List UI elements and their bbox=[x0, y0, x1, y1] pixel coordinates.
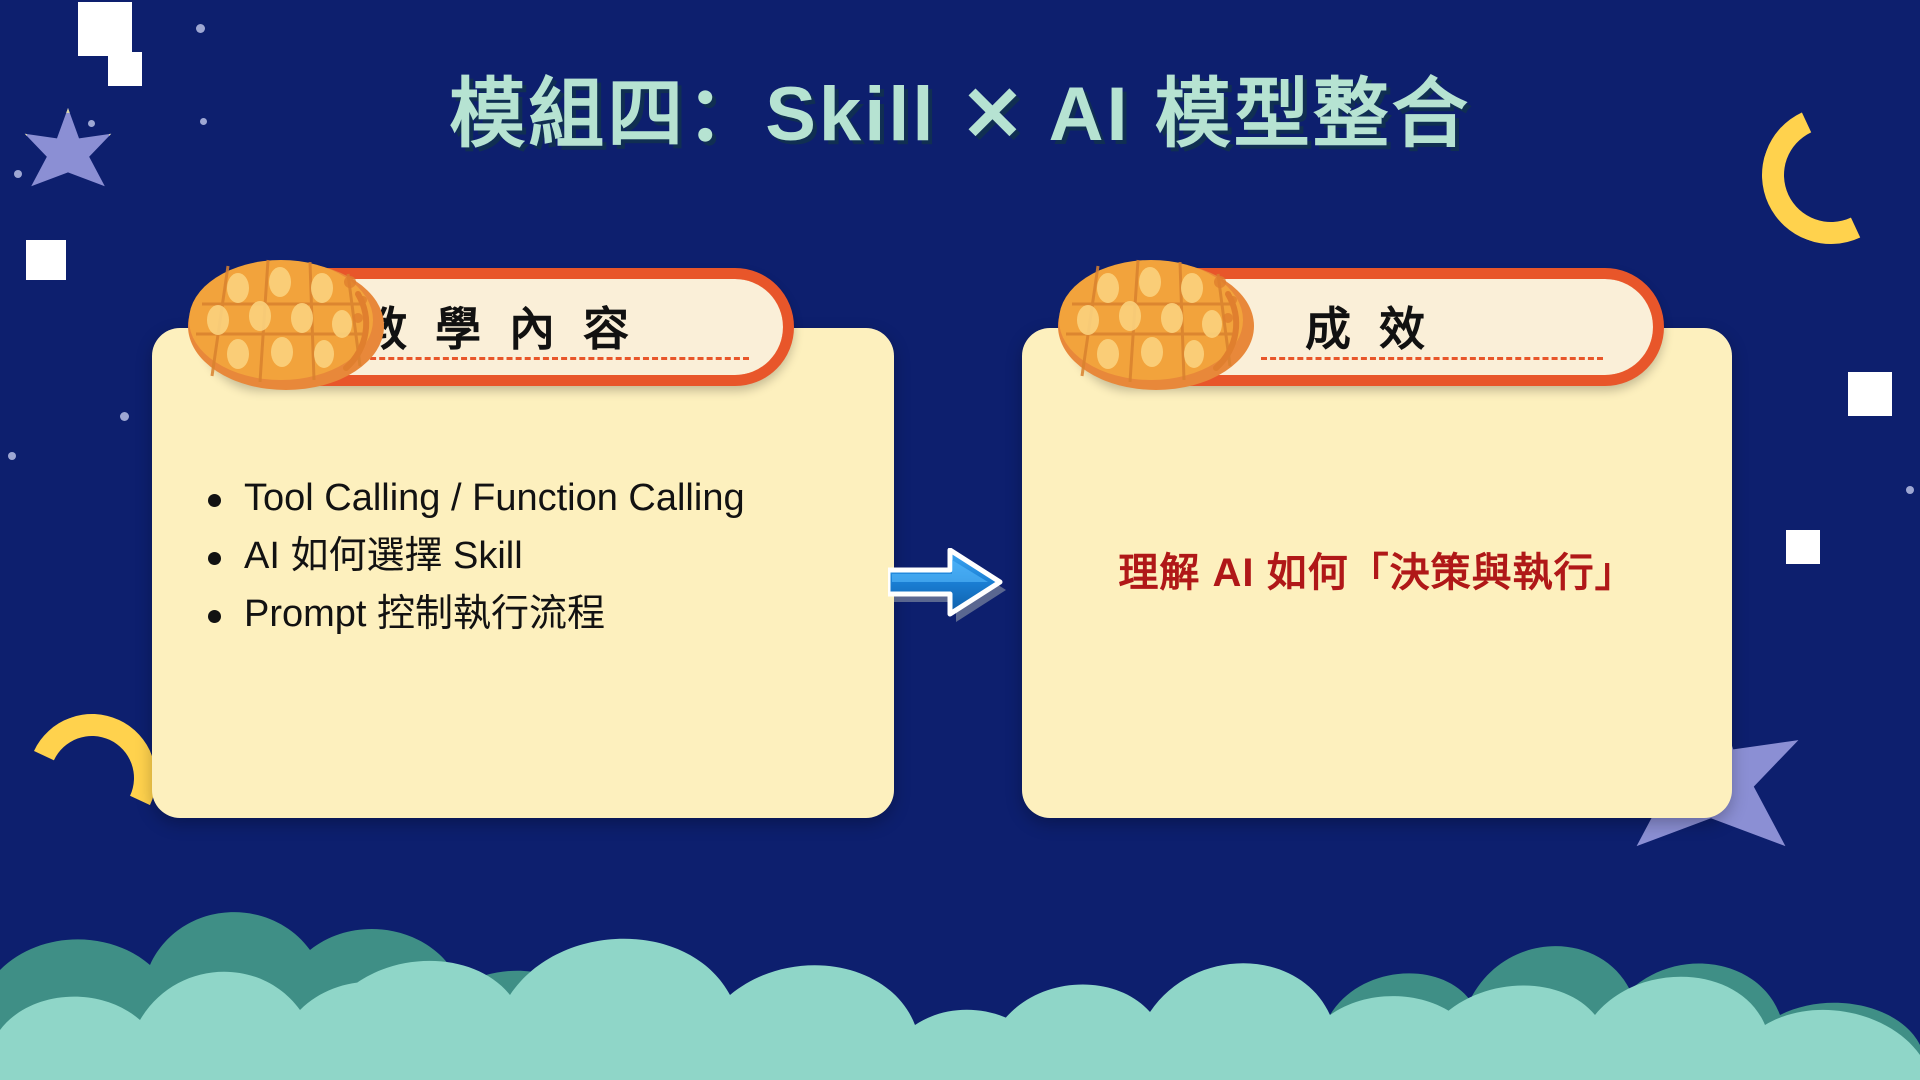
star-dot-icon bbox=[120, 412, 129, 421]
list-item: AI 如何選擇 Skill bbox=[200, 528, 860, 586]
page-title: 模組四：Skill ✕ AI 模型整合 bbox=[0, 52, 1920, 162]
header-dashed-rule bbox=[361, 357, 749, 360]
teaching-content-list: Tool Calling / Function Calling AI 如何選擇 … bbox=[200, 470, 860, 643]
outcome-text: 理解 AI 如何「決策與執行」 bbox=[1022, 540, 1732, 598]
star-dot-icon bbox=[196, 24, 205, 33]
pineapple-bun-icon bbox=[1052, 244, 1260, 394]
star-dot-icon bbox=[14, 170, 22, 178]
sparkle-icon bbox=[78, 2, 132, 56]
pineapple-bun-icon bbox=[182, 244, 390, 394]
cloud-decoration bbox=[0, 780, 1920, 1080]
sparkle-icon bbox=[1786, 530, 1820, 564]
list-item: Prompt 控制執行流程 bbox=[200, 586, 860, 644]
slide-canvas: 模組四：Skill ✕ AI 模型整合 Tool Calling / Funct… bbox=[0, 0, 1920, 1080]
arrow-right-icon bbox=[888, 548, 1018, 624]
sparkle-icon bbox=[26, 240, 66, 280]
star-dot-icon bbox=[8, 452, 16, 460]
header-dashed-rule bbox=[1261, 357, 1603, 360]
list-item: Tool Calling / Function Calling bbox=[200, 470, 860, 528]
sparkle-icon bbox=[1848, 372, 1892, 416]
star-dot-icon bbox=[1906, 486, 1914, 494]
